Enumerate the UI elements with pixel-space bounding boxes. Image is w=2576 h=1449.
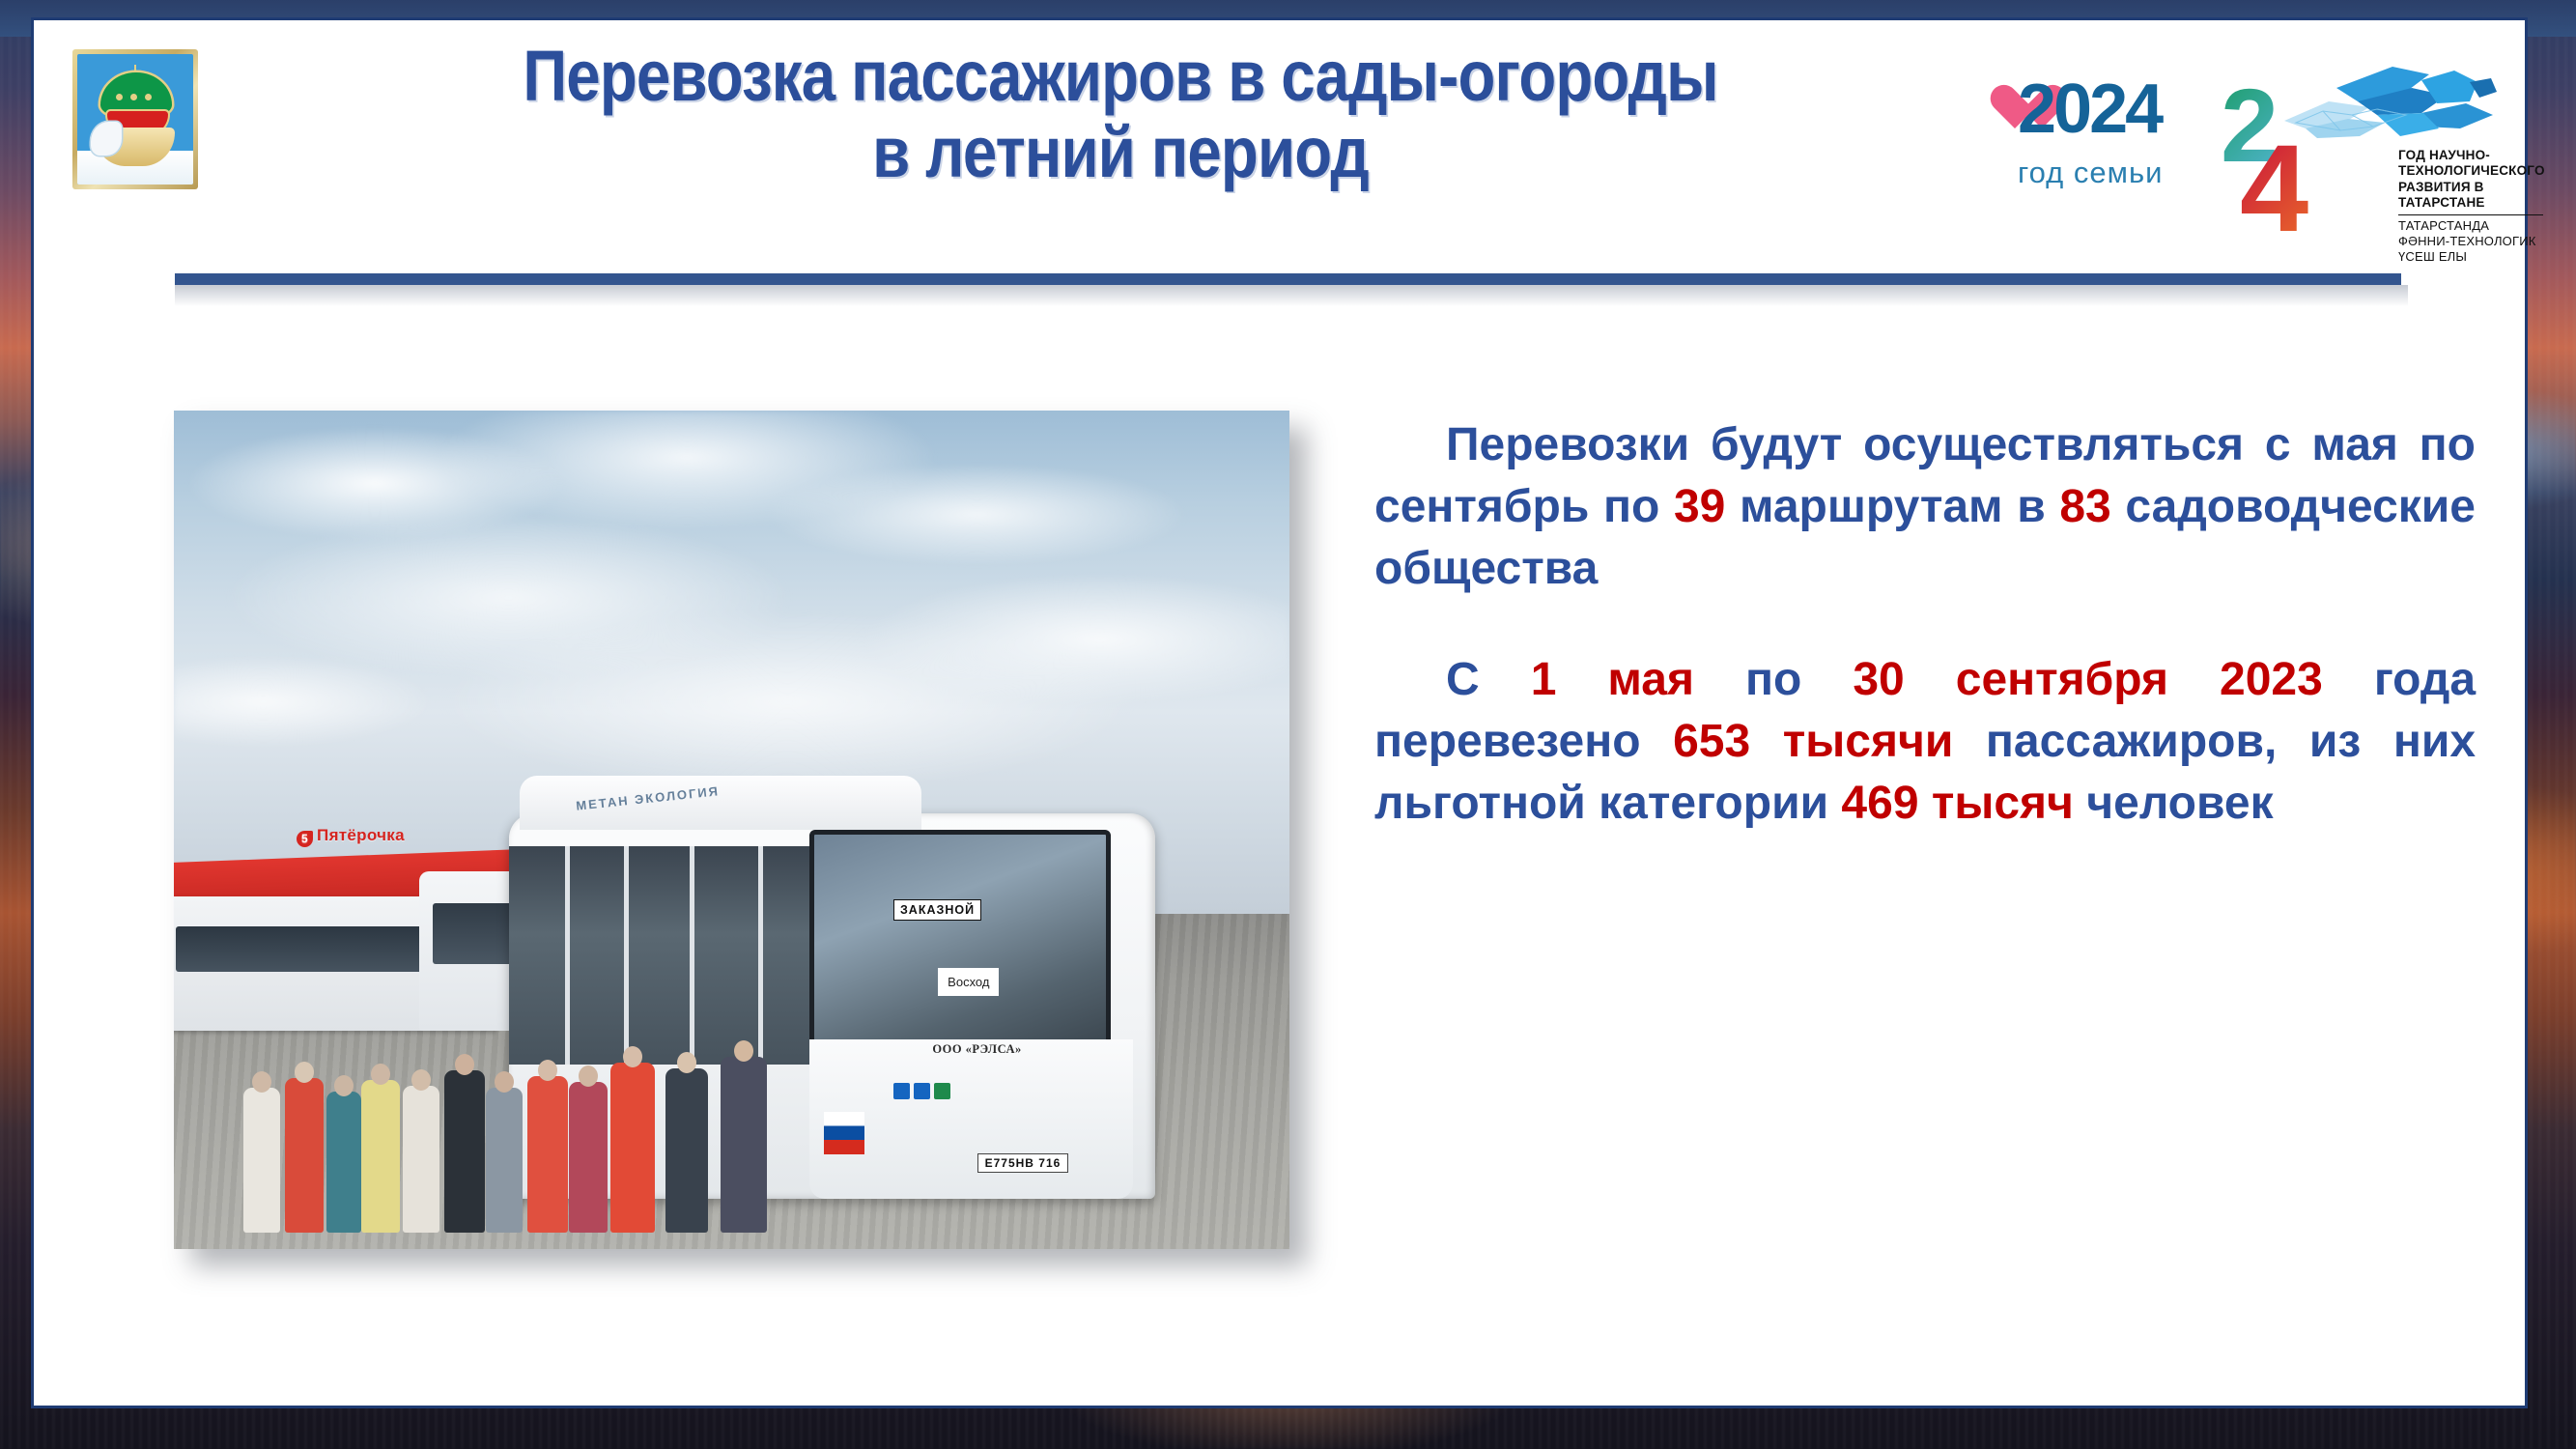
photo-person — [527, 1076, 568, 1233]
photo-person — [361, 1080, 400, 1233]
header-divider — [175, 273, 2401, 285]
body-paragraph-2: С 1 мая по 30 сентября 2023 года перевез… — [1374, 649, 2476, 834]
highlighted-value: 469 тысяч — [1841, 778, 2074, 829]
photo-person — [444, 1070, 485, 1233]
photo-person — [569, 1082, 608, 1233]
slide-root: Перевозка пассажиров в сады-огороды в ле… — [0, 0, 2576, 1449]
body-paragraph-1: Перевозки будут осуществляться с мая по … — [1374, 414, 2476, 599]
photo-person — [665, 1068, 708, 1233]
photo-bus-destination-sign: Восход — [938, 968, 999, 996]
body-text-run: маршрутам в — [1725, 481, 2059, 532]
body-text-run: человек — [2074, 778, 2274, 829]
photo-person — [721, 1057, 767, 1233]
photo-passenger-queue — [230, 930, 921, 1232]
highlighted-value: 30 сентября 2023 — [1853, 654, 2322, 705]
slide-card: Перевозка пассажиров в сады-огороды в ле… — [31, 17, 2528, 1408]
photo-person — [403, 1086, 439, 1233]
logo-science-caption: ГОД НАУЧНО-ТЕХНОЛОГИЧЕСКОГО РАЗВИТИЯ В Т… — [2398, 148, 2543, 265]
emblem-zilant-dragon — [91, 122, 121, 156]
photo-store-sign: 5Пятёрочка — [297, 826, 405, 847]
eco-icon — [934, 1083, 950, 1099]
logo-science-divider — [2398, 214, 2543, 216]
bus-boarding-photo: 5Пятёрочка МЕТАН ЭКОЛОГИЯ ЗАКАЗНОЙ Восхо… — [174, 411, 1289, 1249]
logo-year-of-family: 2024 год семьи — [1989, 67, 2172, 212]
photo-person — [285, 1078, 324, 1233]
highlighted-value: 39 — [1674, 481, 1725, 532]
highlighted-value: 83 — [2059, 481, 2110, 532]
body-text-run: по — [1694, 654, 1853, 705]
photo-person — [486, 1088, 523, 1233]
page-title-block: Перевозка пассажиров в сады-огороды в ле… — [275, 38, 1966, 190]
logo-year-of-science: 2 4 — [2219, 57, 2537, 241]
logo-science-caption-tt: ТАТАРСТАНДА ФӘННИ-ТЕХНОЛОГИК ҮСЕШ ЕЛЫ — [2398, 218, 2543, 265]
emblem-crown-jewels — [112, 88, 160, 97]
slide-header: Перевозка пассажиров в сады-огороды в ле… — [34, 20, 2525, 262]
photo-person — [243, 1088, 280, 1233]
header-divider-shadow — [175, 285, 2408, 306]
coat-of-arms-emblem — [72, 49, 198, 189]
photo-bus-route-sign: ЗАКАЗНОЙ — [893, 899, 981, 921]
photo-person — [326, 1092, 361, 1233]
store-sign-text: Пятёрочка — [317, 826, 405, 844]
body-text-column: Перевозки будут осуществляться с мая по … — [1374, 414, 2476, 835]
logo-family-row: 2024 — [1989, 67, 2172, 163]
store-badge: 5 — [297, 831, 313, 847]
highlighted-value: 1 мая — [1531, 654, 1694, 705]
photo-bus-operator-text: ООО «РЭЛСА» — [932, 1042, 1021, 1057]
page-title: Перевозка пассажиров в сады-огороды в ле… — [394, 38, 1848, 190]
logo-family-year: 2024 — [2018, 74, 2161, 144]
highlighted-value: 653 тысячи — [1673, 716, 1953, 767]
emblem-field — [77, 54, 193, 185]
photo-person — [610, 1063, 655, 1233]
photo-bus-license-plate: Е775НВ 716 — [977, 1153, 1069, 1173]
logo-family-caption: год семьи — [2018, 156, 2163, 190]
logo-science-caption-ru: ГОД НАУЧНО-ТЕХНОЛОГИЧЕСКОГО РАЗВИТИЯ В Т… — [2398, 148, 2543, 212]
emblem-frame — [72, 49, 198, 189]
body-text-run: С — [1446, 654, 1531, 705]
